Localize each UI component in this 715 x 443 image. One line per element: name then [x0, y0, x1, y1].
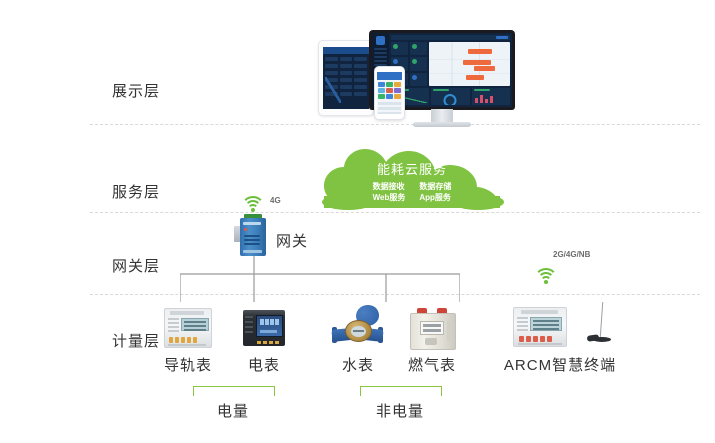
phone-header-bar — [377, 72, 402, 80]
dashboard-bottom-widgets — [391, 88, 510, 105]
cloud-service-columns: 数据接收 Web服务 数据存储 App服务 — [373, 181, 452, 203]
tablet-chart-line — [325, 77, 341, 103]
meter-label-electricity: 电表 — [228, 354, 300, 375]
tablet-device-icon — [318, 40, 374, 116]
cloud-service-column: 数据接收 Web服务 — [373, 181, 406, 203]
antenna-icon — [587, 302, 613, 344]
dashboard-bar-widget — [472, 88, 510, 105]
cloud-service-item: App服务 — [419, 192, 451, 203]
meter-slot-electricity: 电表 — [228, 302, 300, 375]
dashboard-topbar — [391, 35, 510, 40]
bracket-electric-quantity — [193, 386, 275, 396]
cloud-service-item: Web服务 — [373, 192, 406, 203]
bracket-label-electric-quantity: 电量 — [193, 400, 273, 421]
meter-label-din-rail: 导轨表 — [152, 354, 224, 375]
map-marker — [474, 66, 495, 71]
tablet-screen — [323, 47, 369, 109]
map-marker — [466, 75, 484, 80]
water-meter-dial — [345, 320, 372, 342]
meter-label-arcm: ARCM智慧终端 — [495, 354, 625, 375]
cloud-service-column: 数据存储 App服务 — [419, 181, 451, 203]
arcm-network-tag: 2G/4G/NB — [553, 250, 590, 259]
meter-slot-water: 水表 — [322, 302, 394, 375]
meter-label-water: 水表 — [322, 354, 394, 375]
meter-label-gas: 燃气表 — [396, 354, 468, 375]
map-marker — [468, 49, 492, 54]
cloud-service-item: 数据存储 — [419, 181, 451, 192]
arcm-terminal-icon — [495, 302, 625, 348]
dashboard-map-panel — [429, 42, 510, 86]
bracket-non-electric-quantity — [360, 386, 442, 396]
presentation-devices-group — [300, 8, 535, 120]
phone-app-screen — [377, 72, 402, 114]
dashboard-topbar-pill — [496, 36, 508, 39]
layer-divider-1 — [90, 124, 700, 125]
gateway-to-meters-connector — [180, 256, 460, 302]
cloud-title: 能耗云服务 — [377, 159, 447, 178]
monitor-stand-neck — [431, 109, 453, 123]
bracket-label-non-electric-quantity: 非电量 — [360, 400, 440, 421]
gas-meter-icon — [396, 302, 468, 348]
meter-slot-din-rail: 导轨表 — [152, 302, 224, 375]
layer-label-gateway: 网关层 — [112, 255, 160, 276]
dashboard-gauge-widget — [431, 88, 469, 105]
phone-list-rows — [377, 101, 402, 114]
wifi-icon — [535, 268, 557, 284]
monitor-stand-base — [413, 122, 471, 127]
wifi-icon — [242, 196, 264, 212]
layer-divider-2 — [90, 212, 700, 213]
water-meter-icon — [322, 302, 394, 348]
phone-app-grid — [377, 80, 402, 101]
layer-label-service: 服务层 — [112, 181, 160, 202]
gateway-label: 网关 — [276, 230, 308, 251]
din-rail-meter-icon — [152, 302, 224, 348]
gateway-body — [240, 218, 266, 256]
smartphone-device-icon — [374, 66, 405, 120]
layer-label-presentation: 展示层 — [112, 80, 160, 101]
map-marker — [463, 60, 491, 65]
architecture-diagram: 展示层 服务层 网关层 计量层 — [0, 0, 715, 443]
dashboard-logo — [376, 36, 385, 45]
gateway-device-icon — [234, 218, 270, 256]
gateway-status-led — [244, 228, 247, 231]
cloud-service-item: 数据接收 — [373, 181, 406, 192]
meter-slot-gas: 燃气表 — [396, 302, 468, 375]
gateway-network-tag: 4G — [270, 196, 281, 205]
dashboard-body — [389, 33, 512, 107]
dashboard-middle-row — [391, 42, 510, 86]
panel-meter-icon — [228, 302, 300, 348]
arcm-wireless-group: 2G/4G/NB — [495, 268, 625, 302]
tablet-header-bar — [323, 47, 369, 54]
meter-slot-arcm-terminal: ARCM智慧终端 — [495, 302, 625, 375]
